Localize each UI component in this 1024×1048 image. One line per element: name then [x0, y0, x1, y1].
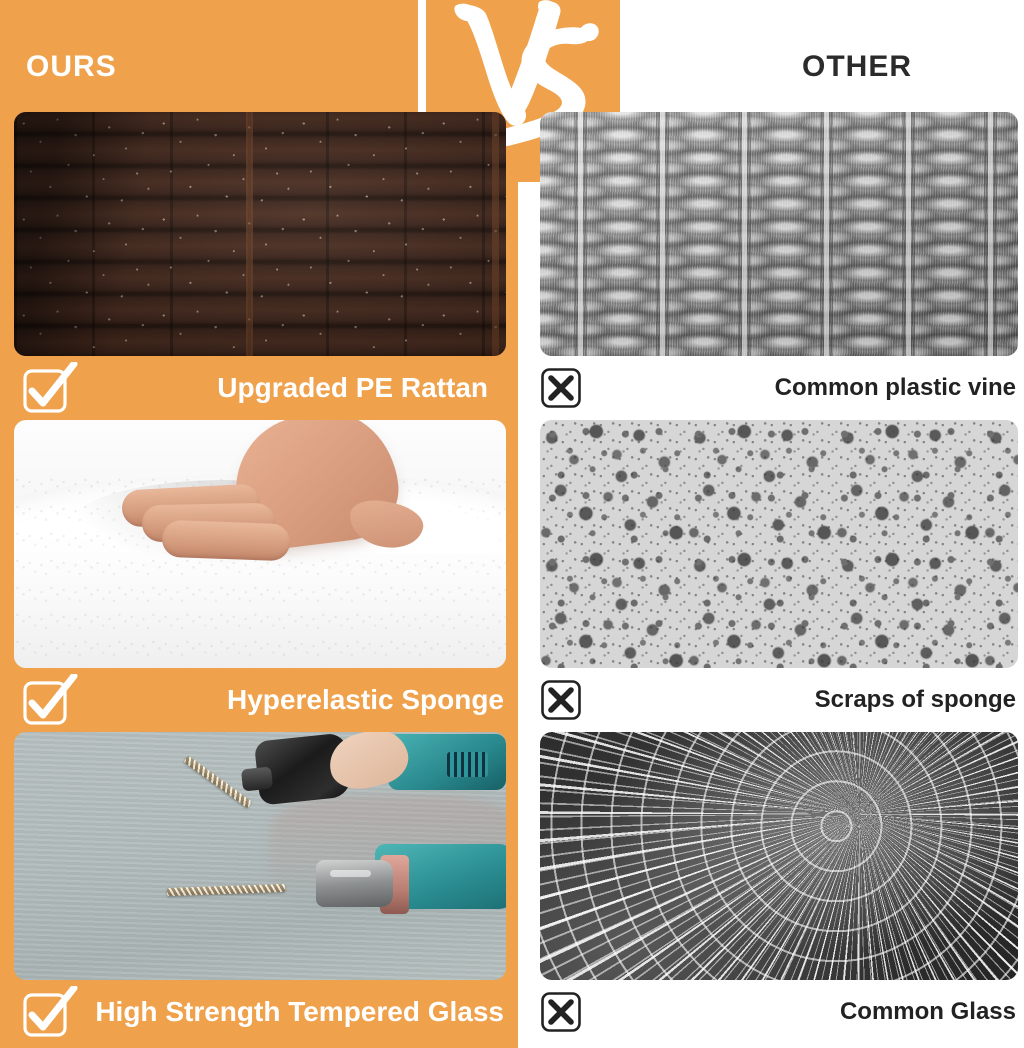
tempered-glass-drill-photo: [14, 732, 506, 980]
other-header: OTHER: [802, 52, 912, 82]
upgraded-pe-rattan-photo: [14, 112, 506, 356]
comparison-infographic: OURS OTHER: [0, 0, 1024, 1048]
wicker-shading-overlay: [540, 112, 1018, 356]
hand-finger: [161, 519, 290, 561]
chuck-ring: [330, 870, 371, 878]
scraps-of-sponge-photo: [540, 420, 1018, 668]
cross-icon: [540, 367, 582, 409]
caption-row-ours-3: High Strength Tempered Glass: [22, 984, 506, 1040]
caption-row-other-2: Scraps of sponge: [540, 672, 1018, 728]
drill-vent: [447, 752, 488, 777]
drill-chuck: [316, 860, 393, 907]
rattan-shading-overlay: [14, 112, 506, 356]
caption-row-ours-1: Upgraded PE Rattan: [22, 360, 506, 416]
shattered-common-glass-photo: [540, 732, 1018, 980]
check-icon: [22, 986, 78, 1038]
caption-label: Common Glass: [840, 998, 1016, 1026]
cross-icon: [540, 679, 582, 721]
caption-label: High Strength Tempered Glass: [95, 996, 504, 1028]
caption-label: Scraps of sponge: [815, 686, 1016, 714]
caption-row-other-3: Common Glass: [540, 984, 1018, 1040]
ours-header: OURS: [26, 52, 117, 82]
teal-drill-lower: [285, 841, 506, 925]
caption-row-ours-2: Hyperelastic Sponge: [22, 672, 506, 728]
cross-icon: [540, 991, 582, 1033]
caption-row-other-1: Common plastic vine: [540, 360, 1018, 416]
sponge-speckle-texture: [540, 420, 1018, 668]
hyperelastic-sponge-photo: [14, 420, 506, 668]
drill-chuck: [241, 766, 273, 791]
glass-impact-glint: [540, 732, 1018, 980]
common-plastic-vine-photo: [540, 112, 1018, 356]
caption-label: Upgraded PE Rattan: [217, 372, 488, 404]
caption-label: Hyperelastic Sponge: [227, 684, 504, 716]
caption-label: Common plastic vine: [775, 374, 1016, 402]
check-icon: [22, 362, 78, 414]
check-icon: [22, 674, 78, 726]
